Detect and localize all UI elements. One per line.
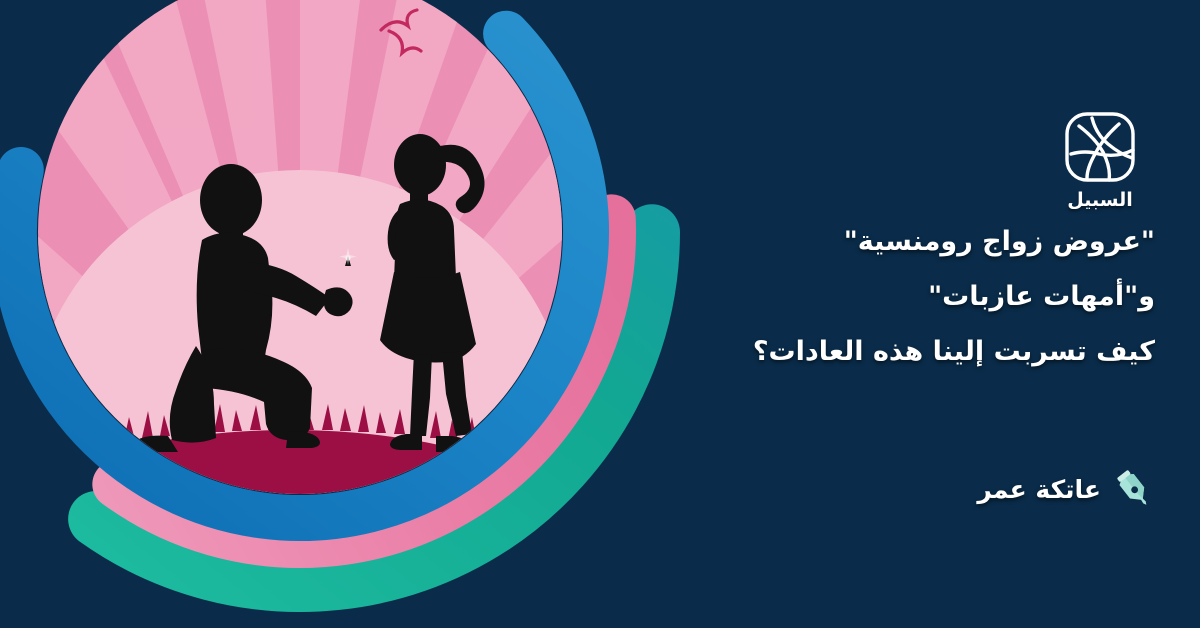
text-panel: السبيل "عروض زواج رومنسية" و"أمهات عازبا… [635, 0, 1155, 628]
headline-line-2: و"أمهات عازبات" [635, 283, 1155, 310]
headline-line-3: كيف تسربت إلينا هذه العادات؟ [635, 338, 1155, 365]
brand-name: السبيل [1045, 190, 1155, 211]
brand-block[interactable]: السبيل [1045, 110, 1155, 211]
sabeel-path-logo-icon [1062, 110, 1138, 188]
headline: "عروض زواج رومنسية" و"أمهات عازبات" كيف … [635, 228, 1155, 365]
butterfly [585, 0, 613, 24]
pen-nib-icon [1113, 468, 1155, 510]
article-social-card: السبيل "عروض زواج رومنسية" و"أمهات عازبا… [0, 0, 1200, 628]
headline-line-1: "عروض زواج رومنسية" [635, 228, 1155, 255]
author-name: عاتكة عمر [977, 475, 1101, 504]
byline: عاتكة عمر [977, 468, 1155, 510]
